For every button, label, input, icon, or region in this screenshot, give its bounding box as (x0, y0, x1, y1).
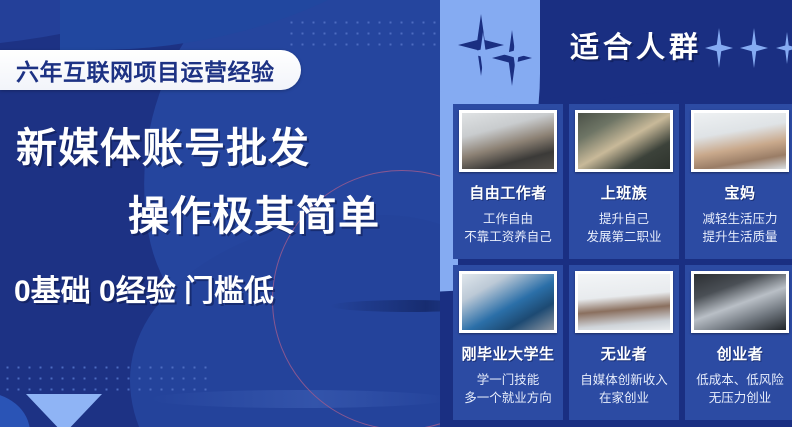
audience-card-description: 自媒体创新收入在家创业 (580, 371, 668, 407)
audience-section-title: 适合人群 (570, 24, 702, 66)
poster-canvas: 六年互联网项目运营经验 新媒体账号批发 操作极其简单 0基础 0经验 门槛低 适… (0, 0, 792, 427)
audience-card-title: 刚毕业大学生 (461, 343, 554, 364)
audience-card-title: 自由工作者 (469, 182, 547, 203)
bedroom-laptop-photo (462, 113, 554, 169)
audience-card-title: 宝妈 (724, 182, 755, 203)
student-desk-laptop-photo (462, 274, 554, 330)
audience-card-desc-line: 多一个就业方向 (464, 389, 552, 407)
experience-badge-label: 六年互联网项目运营经验 (16, 53, 275, 87)
audience-card-desc-line: 不靠工资养自己 (464, 228, 552, 246)
audience-card-photo-frame (459, 271, 557, 333)
audience-card-photo-frame (691, 271, 789, 333)
audience-card[interactable]: 刚毕业大学生学一门技能多一个就业方向 (453, 265, 563, 420)
woman-stressed-laptop-photo (578, 274, 670, 330)
audience-card-description: 低成本、低风险无压力创业 (696, 371, 784, 407)
headline-primary: 新媒体账号批发 (16, 114, 310, 174)
audience-card-description: 减轻生活压力提升生活质量 (702, 210, 777, 246)
audience-card-desc-line: 减轻生活压力 (702, 210, 777, 228)
audience-card-desc-line: 提升自己 (586, 210, 661, 228)
audience-card-desc-line: 工作自由 (464, 210, 552, 228)
sparkle-light-icon-4 (740, 28, 768, 68)
headline-tertiary: 0基础 0经验 门槛低 (14, 266, 274, 310)
office-meeting-topdown-photo (578, 113, 670, 169)
triangle-decoration-icon (26, 394, 102, 427)
mother-child-bed-laptop-photo (694, 113, 786, 169)
audience-card-desc-line: 无压力创业 (696, 389, 784, 407)
sparkle-light-icon-5 (776, 32, 792, 64)
audience-card[interactable]: 无业者自媒体创新收入在家创业 (569, 265, 679, 420)
classroom-seminar-photo (694, 274, 786, 330)
audience-card-title: 无业者 (601, 343, 648, 364)
audience-card-photo-frame (691, 110, 789, 172)
audience-card[interactable]: 上班族提升自己发展第二职业 (569, 104, 679, 259)
audience-card-description: 工作自由不靠工资养自己 (464, 210, 552, 246)
audience-card[interactable]: 自由工作者工作自由不靠工资养自己 (453, 104, 563, 259)
sparkle-light-icon-3 (705, 28, 733, 68)
audience-card-description: 学一门技能多一个就业方向 (464, 371, 552, 407)
audience-card-desc-line: 学一门技能 (464, 371, 552, 389)
audience-card-photo-frame (459, 110, 557, 172)
audience-card-photo-frame (575, 271, 673, 333)
audience-card-photo-frame (575, 110, 673, 172)
experience-badge: 六年互联网项目运营经验 (0, 50, 301, 90)
audience-card[interactable]: 宝妈减轻生活压力提升生活质量 (685, 104, 792, 259)
headline-secondary: 操作极其简单 (128, 182, 380, 242)
right-audience-panel: 适合人群 自由工作者工作自由不靠工资养自己上班族提升自己发展第二职业宝妈减轻生活… (440, 0, 792, 427)
audience-card-grid: 自由工作者工作自由不靠工资养自己上班族提升自己发展第二职业宝妈减轻生活压力提升生… (453, 104, 792, 420)
audience-card-description: 提升自己发展第二职业 (586, 210, 661, 246)
audience-card-desc-line: 自媒体创新收入 (580, 371, 668, 389)
audience-card-desc-line: 低成本、低风险 (696, 371, 784, 389)
left-promo-panel: 六年互联网项目运营经验 新媒体账号批发 操作极其简单 0基础 0经验 门槛低 (0, 0, 440, 427)
audience-card-desc-line: 在家创业 (580, 389, 668, 407)
dot-grid-top-icon (286, 17, 438, 51)
audience-card-title: 创业者 (717, 343, 764, 364)
audience-card-desc-line: 提升生活质量 (702, 228, 777, 246)
audience-card-title: 上班族 (601, 182, 648, 203)
audience-card[interactable]: 创业者低成本、低风险无压力创业 (685, 265, 792, 420)
dot-grid-bottom-icon (2, 362, 214, 395)
audience-card-desc-line: 发展第二职业 (586, 228, 661, 246)
